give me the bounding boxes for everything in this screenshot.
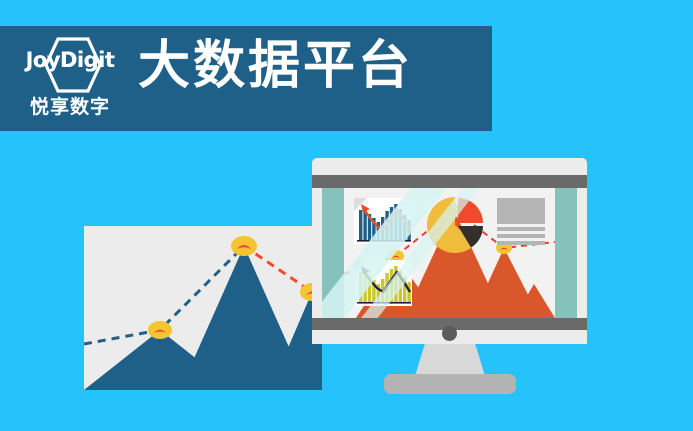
monitor-top-bezel bbox=[312, 175, 587, 188]
logo-wordmark: JoyDigit bbox=[14, 48, 126, 72]
monitor-stand-base bbox=[384, 374, 516, 394]
data-marker bbox=[231, 236, 257, 256]
power-button[interactable] bbox=[442, 326, 457, 341]
desktop-monitor bbox=[312, 158, 587, 344]
data-marker bbox=[148, 321, 172, 339]
logo-subtitle: 悦享数字 bbox=[14, 92, 126, 119]
monitor-stand-neck bbox=[415, 344, 485, 376]
text-line bbox=[497, 234, 545, 238]
image-placeholder bbox=[497, 198, 545, 224]
text-line bbox=[497, 227, 545, 231]
text-line bbox=[497, 241, 545, 245]
brand-logo: JoyDigit 悦享数字 bbox=[14, 34, 126, 124]
poster-canvas: JoyDigit 悦享数字 大数据平台 bbox=[0, 0, 693, 431]
text-placeholder-block bbox=[497, 198, 545, 245]
mountain-trend-chart bbox=[84, 226, 322, 390]
monitor-screen bbox=[322, 188, 577, 318]
page-title: 大数据平台 bbox=[138, 40, 413, 92]
mountain-trend-panel bbox=[84, 226, 322, 390]
screen-side-band-right bbox=[555, 188, 577, 318]
